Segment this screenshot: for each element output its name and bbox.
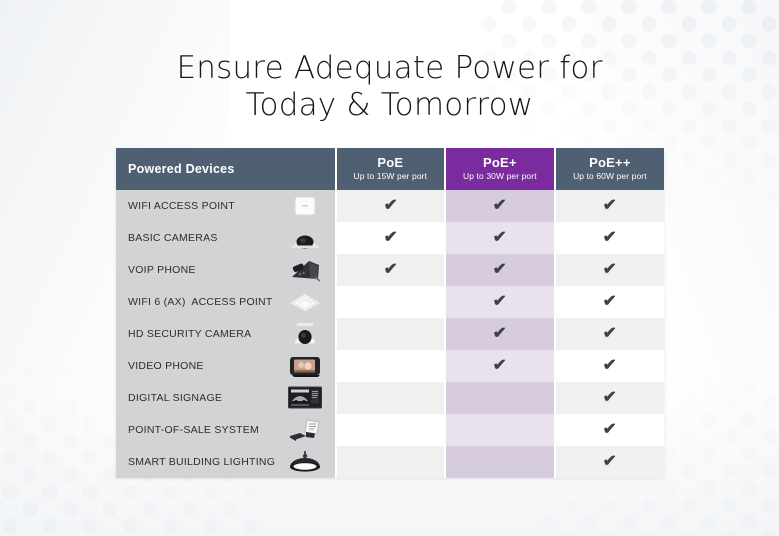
table-row: VIDEO PHONE✔✔✔: [116, 350, 664, 382]
column-header-poe-plus-plus-sub: Up to 60W per port: [556, 170, 664, 182]
device-cell: SMART BUILDING LIGHTING: [116, 446, 335, 478]
check-icon: ✔: [603, 262, 617, 278]
check-icon: ✔: [603, 422, 617, 438]
table-body: WIFI ACCESS POINT✔✔✔BASIC CAMERAS✔✔✔VOIP…: [116, 190, 664, 478]
page-title: Ensure Adequate Power for Today & Tomorr…: [0, 50, 779, 124]
high-bay-light-icon: [287, 449, 323, 475]
support-cell-poe-plus: ✔: [444, 318, 554, 350]
check-icon: ✔: [603, 326, 617, 342]
digital-signage-icon: [287, 385, 323, 411]
column-header-poe-plus-plus-name: PoE++: [556, 156, 664, 170]
table-row: WIFI 6 (AX) ACCESS POINT✔✔✔: [116, 286, 664, 318]
device-label: BASIC CAMERAS: [128, 232, 218, 244]
support-cell-poe-plus-plus: ✔: [554, 222, 664, 254]
support-cell-poe: ✔: [335, 382, 444, 414]
wifi6-access-point-icon: [287, 289, 323, 315]
device-label: DIGITAL SIGNAGE: [128, 392, 222, 404]
table-header: Powered Devices PoE Up to 15W per port P…: [116, 148, 664, 190]
check-icon: ✔: [493, 230, 507, 246]
check-icon: ✔: [493, 198, 507, 214]
support-cell-poe-plus: ✔: [444, 286, 554, 318]
device-cell: POINT-OF-SALE SYSTEM: [116, 414, 335, 446]
column-header-poe-name: PoE: [337, 156, 444, 170]
point-of-sale-icon: [287, 417, 323, 443]
table-row: BASIC CAMERAS✔✔✔: [116, 222, 664, 254]
table-row: WIFI ACCESS POINT✔✔✔: [116, 190, 664, 222]
device-label: POINT-OF-SALE SYSTEM: [128, 424, 259, 436]
poe-comparison-table: Powered Devices PoE Up to 15W per port P…: [116, 148, 664, 478]
support-cell-poe: ✔: [335, 414, 444, 446]
turret-security-camera-icon: [287, 321, 323, 347]
column-header-poe-plus-plus: PoE++ Up to 60W per port: [554, 148, 664, 190]
check-icon: ✔: [493, 358, 507, 374]
support-cell-poe-plus: ✔: [444, 350, 554, 382]
check-icon: ✔: [603, 230, 617, 246]
column-header-poe-sub: Up to 15W per port: [337, 170, 444, 182]
device-cell: WIFI 6 (AX) ACCESS POINT: [116, 286, 335, 318]
check-icon: ✔: [603, 454, 617, 470]
check-icon: ✔: [603, 390, 617, 406]
support-cell-poe-plus-plus: ✔: [554, 190, 664, 222]
support-cell-poe-plus: ✔: [444, 446, 554, 478]
check-icon: ✔: [383, 262, 397, 278]
table-row: SMART BUILDING LIGHTING✔✔✔: [116, 446, 664, 478]
support-cell-poe-plus: ✔: [444, 190, 554, 222]
table-header-row: Powered Devices PoE Up to 15W per port P…: [116, 148, 664, 190]
support-cell-poe-plus: ✔: [444, 222, 554, 254]
check-icon: ✔: [493, 326, 507, 342]
support-cell-poe-plus: ✔: [444, 254, 554, 286]
column-header-poe: PoE Up to 15W per port: [335, 148, 444, 190]
device-cell: VIDEO PHONE: [116, 350, 335, 382]
support-cell-poe: ✔: [335, 222, 444, 254]
dome-camera-icon: [287, 225, 323, 251]
support-cell-poe: ✔: [335, 286, 444, 318]
device-label: VOIP PHONE: [128, 264, 196, 276]
table-row: POINT-OF-SALE SYSTEM✔✔✔: [116, 414, 664, 446]
support-cell-poe-plus-plus: ✔: [554, 286, 664, 318]
device-label: WIFI 6 (AX) ACCESS POINT: [128, 296, 273, 308]
check-icon: ✔: [603, 198, 617, 214]
check-icon: ✔: [383, 230, 397, 246]
column-header-poe-plus: PoE+ Up to 30W per port: [444, 148, 554, 190]
device-cell: BASIC CAMERAS: [116, 222, 335, 254]
device-cell: VOIP PHONE: [116, 254, 335, 286]
support-cell-poe-plus-plus: ✔: [554, 446, 664, 478]
support-cell-poe: ✔: [335, 350, 444, 382]
support-cell-poe: ✔: [335, 318, 444, 350]
support-cell-poe-plus-plus: ✔: [554, 414, 664, 446]
support-cell-poe-plus-plus: ✔: [554, 350, 664, 382]
table-row: HD SECURITY CAMERA✔✔✔: [116, 318, 664, 350]
check-icon: ✔: [603, 358, 617, 374]
column-header-powered-devices: Powered Devices: [116, 148, 335, 190]
device-label: WIFI ACCESS POINT: [128, 200, 235, 212]
device-cell: HD SECURITY CAMERA: [116, 318, 335, 350]
column-header-poe-plus-sub: Up to 30W per port: [446, 170, 554, 182]
column-header-poe-plus-name: PoE+: [446, 156, 554, 170]
device-cell: DIGITAL SIGNAGE: [116, 382, 335, 414]
support-cell-poe-plus: ✔: [444, 414, 554, 446]
table-row: VOIP PHONE✔✔✔: [116, 254, 664, 286]
device-label: VIDEO PHONE: [128, 360, 204, 372]
support-cell-poe: ✔: [335, 190, 444, 222]
support-cell-poe-plus: ✔: [444, 382, 554, 414]
support-cell-poe-plus-plus: ✔: [554, 254, 664, 286]
page-title-line-2: Today & Tomorrow: [0, 87, 779, 124]
support-cell-poe: ✔: [335, 254, 444, 286]
support-cell-poe-plus-plus: ✔: [554, 382, 664, 414]
support-cell-poe-plus-plus: ✔: [554, 318, 664, 350]
wifi-access-point-icon: [287, 193, 323, 219]
check-icon: ✔: [383, 198, 397, 214]
voip-desk-phone-icon: [287, 257, 323, 283]
device-label: HD SECURITY CAMERA: [128, 328, 251, 340]
page-title-line-1: Ensure Adequate Power for: [0, 50, 779, 87]
video-phone-icon: [287, 353, 323, 379]
device-label: SMART BUILDING LIGHTING: [128, 456, 275, 468]
check-icon: ✔: [603, 294, 617, 310]
check-icon: ✔: [493, 262, 507, 278]
support-cell-poe: ✔: [335, 446, 444, 478]
device-cell: WIFI ACCESS POINT: [116, 190, 335, 222]
table-row: DIGITAL SIGNAGE✔✔✔: [116, 382, 664, 414]
check-icon: ✔: [493, 294, 507, 310]
